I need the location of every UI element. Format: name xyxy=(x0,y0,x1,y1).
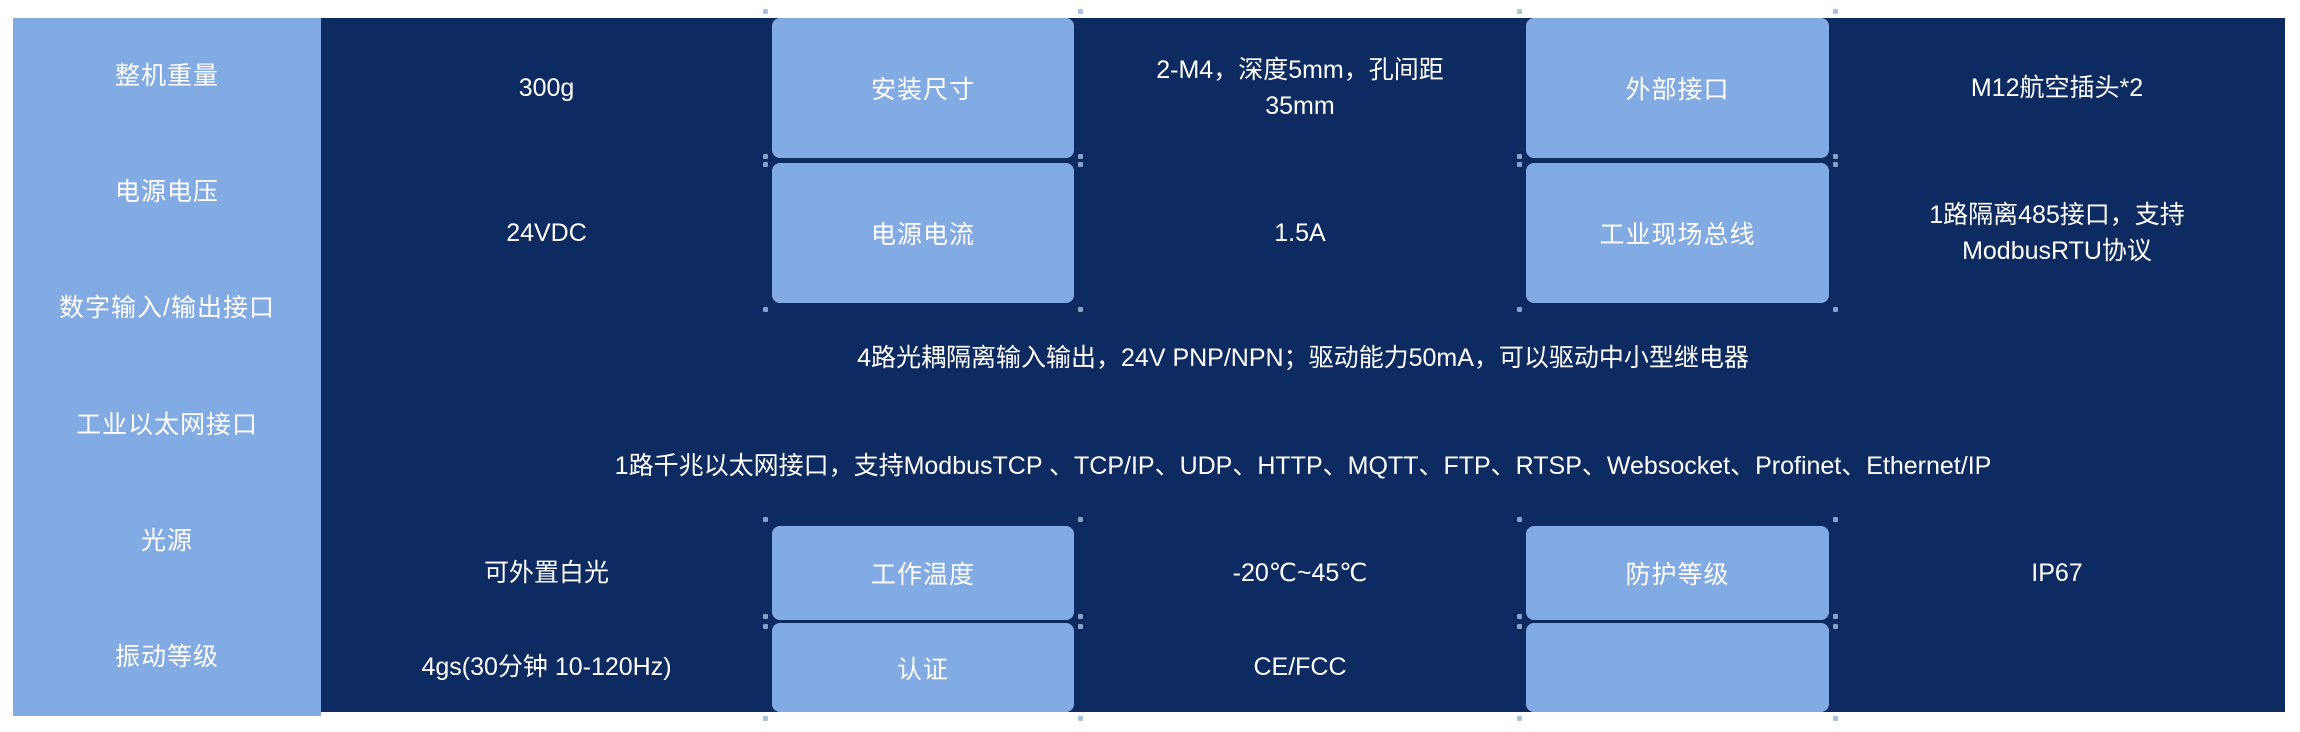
table-row: 300g 安装尺寸 2-M4，深度5mm，孔间距 35mm xyxy=(321,18,2285,158)
value-text: 300g xyxy=(505,70,589,106)
key-chip-empty[interactable] xyxy=(1526,623,1829,712)
key-chip-label: 工作温度 xyxy=(871,555,975,591)
key-cell-mounting-size[interactable]: 安装尺寸 xyxy=(772,18,1074,158)
spec-row-label: 数字输入/输出接口 xyxy=(13,251,321,367)
selection-handle-icon[interactable] xyxy=(1078,9,1083,14)
key-chip-label: 认证 xyxy=(897,650,949,686)
value-text: 24VDC xyxy=(492,215,601,251)
key-chip[interactable]: 工业现场总线 xyxy=(1526,163,1829,303)
key-chip[interactable]: 工作温度 xyxy=(772,526,1074,620)
key-chip[interactable]: 安装尺寸 xyxy=(772,18,1074,158)
selection-handle-icon[interactable] xyxy=(763,716,768,721)
spec-value-panel: 300g 安装尺寸 2-M4，深度5mm，孔间距 35mm xyxy=(321,18,2285,712)
value-cell-light-source: 可外置白光 xyxy=(321,526,772,620)
value-text: 2-M4，深度5mm，孔间距 35mm xyxy=(1142,52,1458,125)
selection-handle-icon[interactable] xyxy=(1517,716,1522,721)
table-row: 4gs(30分钟 10-120Hz) 认证 CE/FCC xyxy=(321,623,2285,712)
spec-row-label: 光源 xyxy=(13,483,321,599)
value-text: M12航空插头*2 xyxy=(1957,70,2157,106)
table-row: 可外置白光 工作温度 -20℃~45℃ 防护等级 xyxy=(321,526,2285,620)
value-text: 可外置白光 xyxy=(470,555,623,591)
table-row-merged-ethernet: 1路千兆以太网接口，支持ModbusTCP 、TCP/IP、UDP、HTTP、M… xyxy=(321,416,2285,516)
key-cell-protection-rating[interactable]: 防护等级 xyxy=(1526,526,1829,620)
spec-row-label: 整机重量 xyxy=(13,18,321,134)
value-line-1: 2-M4，深度5mm，孔间距 xyxy=(1156,56,1444,84)
value-cell-external-interface: M12航空插头*2 xyxy=(1829,18,2285,158)
value-cell-protection-rating: IP67 xyxy=(1829,526,2285,620)
key-chip[interactable]: 认证 xyxy=(772,623,1074,712)
key-chip[interactable]: 电源电流 xyxy=(772,163,1074,303)
selection-handle-icon[interactable] xyxy=(763,517,768,522)
value-cell-empty xyxy=(1829,623,2285,712)
selection-handle-icon[interactable] xyxy=(1078,517,1083,522)
selection-handle-icon[interactable] xyxy=(1833,517,1838,522)
key-chip-label: 安装尺寸 xyxy=(871,70,975,106)
value-line-1: 1路隔离485接口，支持 xyxy=(1929,201,2185,229)
key-cell-empty[interactable] xyxy=(1526,623,1829,712)
selection-handle-icon[interactable] xyxy=(763,9,768,14)
spec-row-label: 电源电压 xyxy=(13,134,321,250)
value-line-2: 35mm xyxy=(1265,92,1334,120)
selection-handle-icon[interactable] xyxy=(1517,9,1522,14)
value-cell-vibration: 4gs(30分钟 10-120Hz) xyxy=(321,623,772,712)
key-cell-fieldbus[interactable]: 工业现场总线 xyxy=(1526,163,1829,303)
merged-value-text: 4路光耦隔离输入输出，24V PNP/NPN；驱动能力50mA，可以驱动中小型继… xyxy=(843,340,1763,376)
value-text: 1路隔离485接口，支持 ModbusRTU协议 xyxy=(1915,197,2199,270)
value-text: 4gs(30分钟 10-120Hz) xyxy=(407,649,685,685)
selection-handle-icon[interactable] xyxy=(1833,9,1838,14)
key-chip-label: 工业现场总线 xyxy=(1599,215,1755,251)
value-cell-operating-temperature: -20℃~45℃ xyxy=(1074,526,1526,620)
value-cell-certification: CE/FCC xyxy=(1074,623,1526,712)
key-chip-label: 防护等级 xyxy=(1625,555,1729,591)
value-text: CE/FCC xyxy=(1239,649,1360,685)
key-cell-operating-temperature[interactable]: 工作温度 xyxy=(772,526,1074,620)
spec-row-label: 振动等级 xyxy=(13,600,321,716)
value-text: 1.5A xyxy=(1260,215,1339,251)
table-row: 24VDC 电源电流 1.5A 工业现场总线 xyxy=(321,163,2285,303)
value-cell-mounting-size: 2-M4，深度5mm，孔间距 35mm xyxy=(1074,18,1526,158)
spec-label-column[interactable]: 整机重量 电源电压 数字输入/输出接口 工业以太网接口 光源 振动等级 xyxy=(13,18,321,716)
value-text: -20℃~45℃ xyxy=(1219,555,1382,591)
selection-handle-icon[interactable] xyxy=(1833,716,1838,721)
value-cell-supply-current: 1.5A xyxy=(1074,163,1526,303)
value-line-2: ModbusRTU协议 xyxy=(1962,237,2152,265)
selection-handle-icon[interactable] xyxy=(1078,716,1083,721)
value-cell-supply-voltage: 24VDC xyxy=(321,163,772,303)
key-chip-label: 外部接口 xyxy=(1625,70,1729,106)
key-cell-supply-current[interactable]: 电源电流 xyxy=(772,163,1074,303)
key-chip[interactable]: 防护等级 xyxy=(1526,526,1829,620)
table-row-merged-digital-io: 4路光耦隔离输入输出，24V PNP/NPN；驱动能力50mA，可以驱动中小型继… xyxy=(321,308,2285,408)
merged-value-text: 1路千兆以太网接口，支持ModbusTCP 、TCP/IP、UDP、HTTP、M… xyxy=(601,448,2006,484)
value-text: IP67 xyxy=(2017,555,2096,591)
value-cell-fieldbus: 1路隔离485接口，支持 ModbusRTU协议 xyxy=(1829,163,2285,303)
slide-canvas: 整机重量 电源电压 数字输入/输出接口 工业以太网接口 光源 振动等级 300g… xyxy=(0,0,2300,732)
key-chip[interactable]: 外部接口 xyxy=(1526,18,1829,158)
key-cell-certification[interactable]: 认证 xyxy=(772,623,1074,712)
spec-row-label: 工业以太网接口 xyxy=(13,367,321,483)
key-cell-external-interface[interactable]: 外部接口 xyxy=(1526,18,1829,158)
value-cell-weight: 300g xyxy=(321,18,772,158)
key-chip-label: 电源电流 xyxy=(871,215,975,251)
selection-handle-icon[interactable] xyxy=(1517,517,1522,522)
